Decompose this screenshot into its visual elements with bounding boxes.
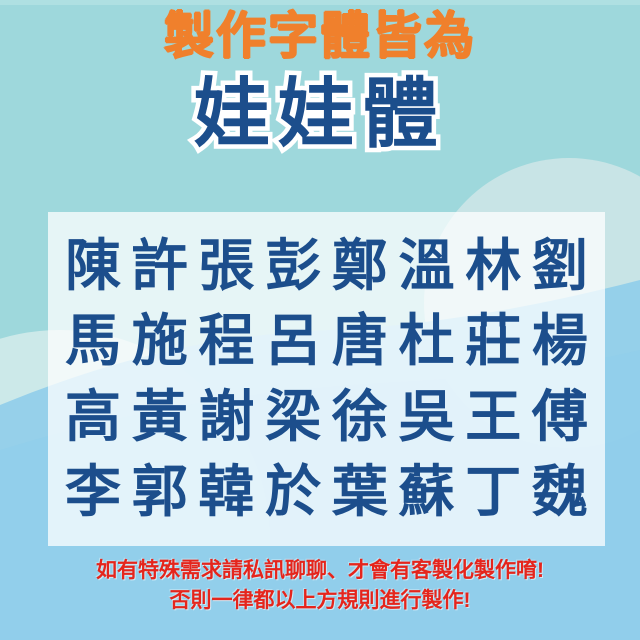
header-title-orange: 製作字體皆為 xyxy=(0,10,640,63)
surname-char: 韓 xyxy=(195,464,257,520)
surname-char: 彭 xyxy=(262,238,324,294)
surname-char: 莊 xyxy=(462,313,524,369)
surname-char: 楊 xyxy=(529,313,591,369)
surname-char: 謝 xyxy=(195,389,257,445)
surname-row: 馬 施 程 呂 唐 杜 莊 楊 xyxy=(48,313,605,369)
surname-char: 王 xyxy=(462,389,524,445)
surname-char: 郭 xyxy=(129,464,191,520)
surname-panel: 陳 許 張 彭 鄭 溫 林 劉 馬 施 程 呂 唐 杜 莊 楊 高 黃 謝 梁 … xyxy=(48,212,605,546)
surname-char: 傅 xyxy=(529,389,591,445)
surname-char: 杜 xyxy=(396,313,458,369)
surname-char: 李 xyxy=(62,464,124,520)
surname-char: 施 xyxy=(129,313,191,369)
poster-header: 製作字體皆為 娃娃體 xyxy=(0,10,640,154)
surname-char: 梁 xyxy=(262,389,324,445)
surname-char: 魏 xyxy=(529,464,591,520)
surname-char: 葉 xyxy=(329,464,391,520)
surname-char: 高 xyxy=(62,389,124,445)
surname-char: 溫 xyxy=(396,238,458,294)
surname-char: 呂 xyxy=(262,313,324,369)
surname-char: 馬 xyxy=(62,313,124,369)
surname-char: 張 xyxy=(195,238,257,294)
surname-char: 徐 xyxy=(329,389,391,445)
top-edge-strip xyxy=(0,0,640,5)
surname-char: 陳 xyxy=(62,238,124,294)
surname-char: 吳 xyxy=(396,389,458,445)
surname-char: 蘇 xyxy=(396,464,458,520)
surname-row: 陳 許 張 彭 鄭 溫 林 劉 xyxy=(48,238,605,294)
surname-row: 李 郭 韓 於 葉 蘇 丁 魏 xyxy=(48,464,605,520)
surname-char: 黃 xyxy=(129,389,191,445)
poster-footer-notice: 如有特殊需求請私訊聊聊、才會有客製化製作唷! 否則一律都以上方規則進行製作! xyxy=(0,556,640,616)
notice-line-2: 否則一律都以上方規則進行製作! xyxy=(0,586,640,616)
header-title-blue: 娃娃體 xyxy=(0,75,640,155)
font-sample-poster: 製作字體皆為 娃娃體 陳 許 張 彭 鄭 溫 林 劉 馬 施 程 呂 唐 杜 莊… xyxy=(0,0,640,640)
surname-row: 高 黃 謝 梁 徐 吳 王 傅 xyxy=(48,389,605,445)
surname-char: 於 xyxy=(262,464,324,520)
surname-char: 唐 xyxy=(329,313,391,369)
surname-char: 鄭 xyxy=(329,238,391,294)
notice-line-1: 如有特殊需求請私訊聊聊、才會有客製化製作唷! xyxy=(0,556,640,586)
surname-char: 程 xyxy=(195,313,257,369)
surname-char: 林 xyxy=(462,238,524,294)
surname-char: 許 xyxy=(129,238,191,294)
surname-char: 丁 xyxy=(462,464,524,520)
surname-char: 劉 xyxy=(529,238,591,294)
